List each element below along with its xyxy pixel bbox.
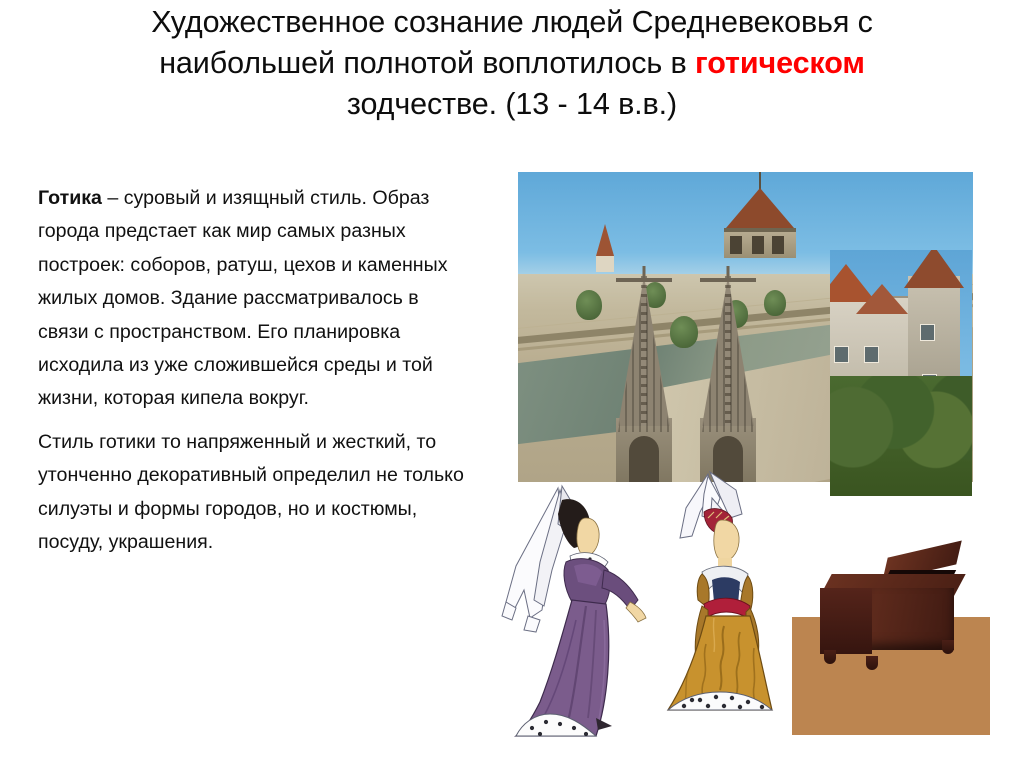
medieval-costume-gold (650, 468, 790, 730)
title-accent-word: готическом (695, 46, 865, 80)
castle-window (864, 346, 879, 363)
tower-finial (643, 266, 646, 280)
title-line-2-text: наибольшей полнотой воплотилось в (159, 46, 695, 80)
chest-front-panel (820, 588, 872, 654)
castle-window (920, 324, 935, 341)
castle-trees (830, 376, 972, 496)
belfry-roof (726, 188, 794, 228)
chest-foot (824, 650, 836, 664)
title-line-1: Художественное сознание людей Средневеко… (46, 2, 978, 43)
cathedral-tower-right (698, 276, 758, 482)
castle-turret-roof-middle (856, 284, 908, 314)
belfry-body (724, 228, 796, 258)
slide-canvas: Художественное сознание людей Средневеко… (0, 0, 1024, 767)
lead-term: Готика (38, 187, 102, 209)
gothic-cathedral-towers (610, 274, 806, 482)
title-line-3-text: зодчестве. (13 - 14 в.в.) (347, 87, 677, 121)
title-line-2: наибольшей полнотой воплотилось в готиче… (46, 43, 978, 84)
tree-icon (576, 290, 602, 320)
belfry-tower (718, 188, 802, 262)
chest-foot (942, 640, 954, 654)
paragraph-definition-rest: – суровый и изящный стиль. Образ города … (38, 187, 448, 409)
castle-turret-roof-right (904, 250, 964, 288)
title-line-3: зодчестве. (13 - 14 в.в.) (46, 84, 978, 125)
page-title: Художественное сознание людей Средневеко… (46, 2, 978, 125)
cathedral-tower-left (614, 276, 674, 482)
far-spire-icon (596, 224, 614, 256)
tower-finial (727, 266, 730, 280)
castle-window (834, 346, 849, 363)
chest-foot (866, 656, 878, 670)
image-collage (470, 160, 1024, 760)
castle-photo (830, 250, 972, 496)
medieval-costume-violet (500, 470, 650, 740)
paragraph-style: Стиль готики то напряженный и жесткий, т… (38, 426, 470, 560)
paragraph-definition: Готика – суровый и изящный стиль. Образ … (38, 182, 470, 416)
wooden-chest-photo (792, 500, 990, 735)
body-text-column: Готика – суровый и изящный стиль. Образ … (38, 182, 470, 565)
